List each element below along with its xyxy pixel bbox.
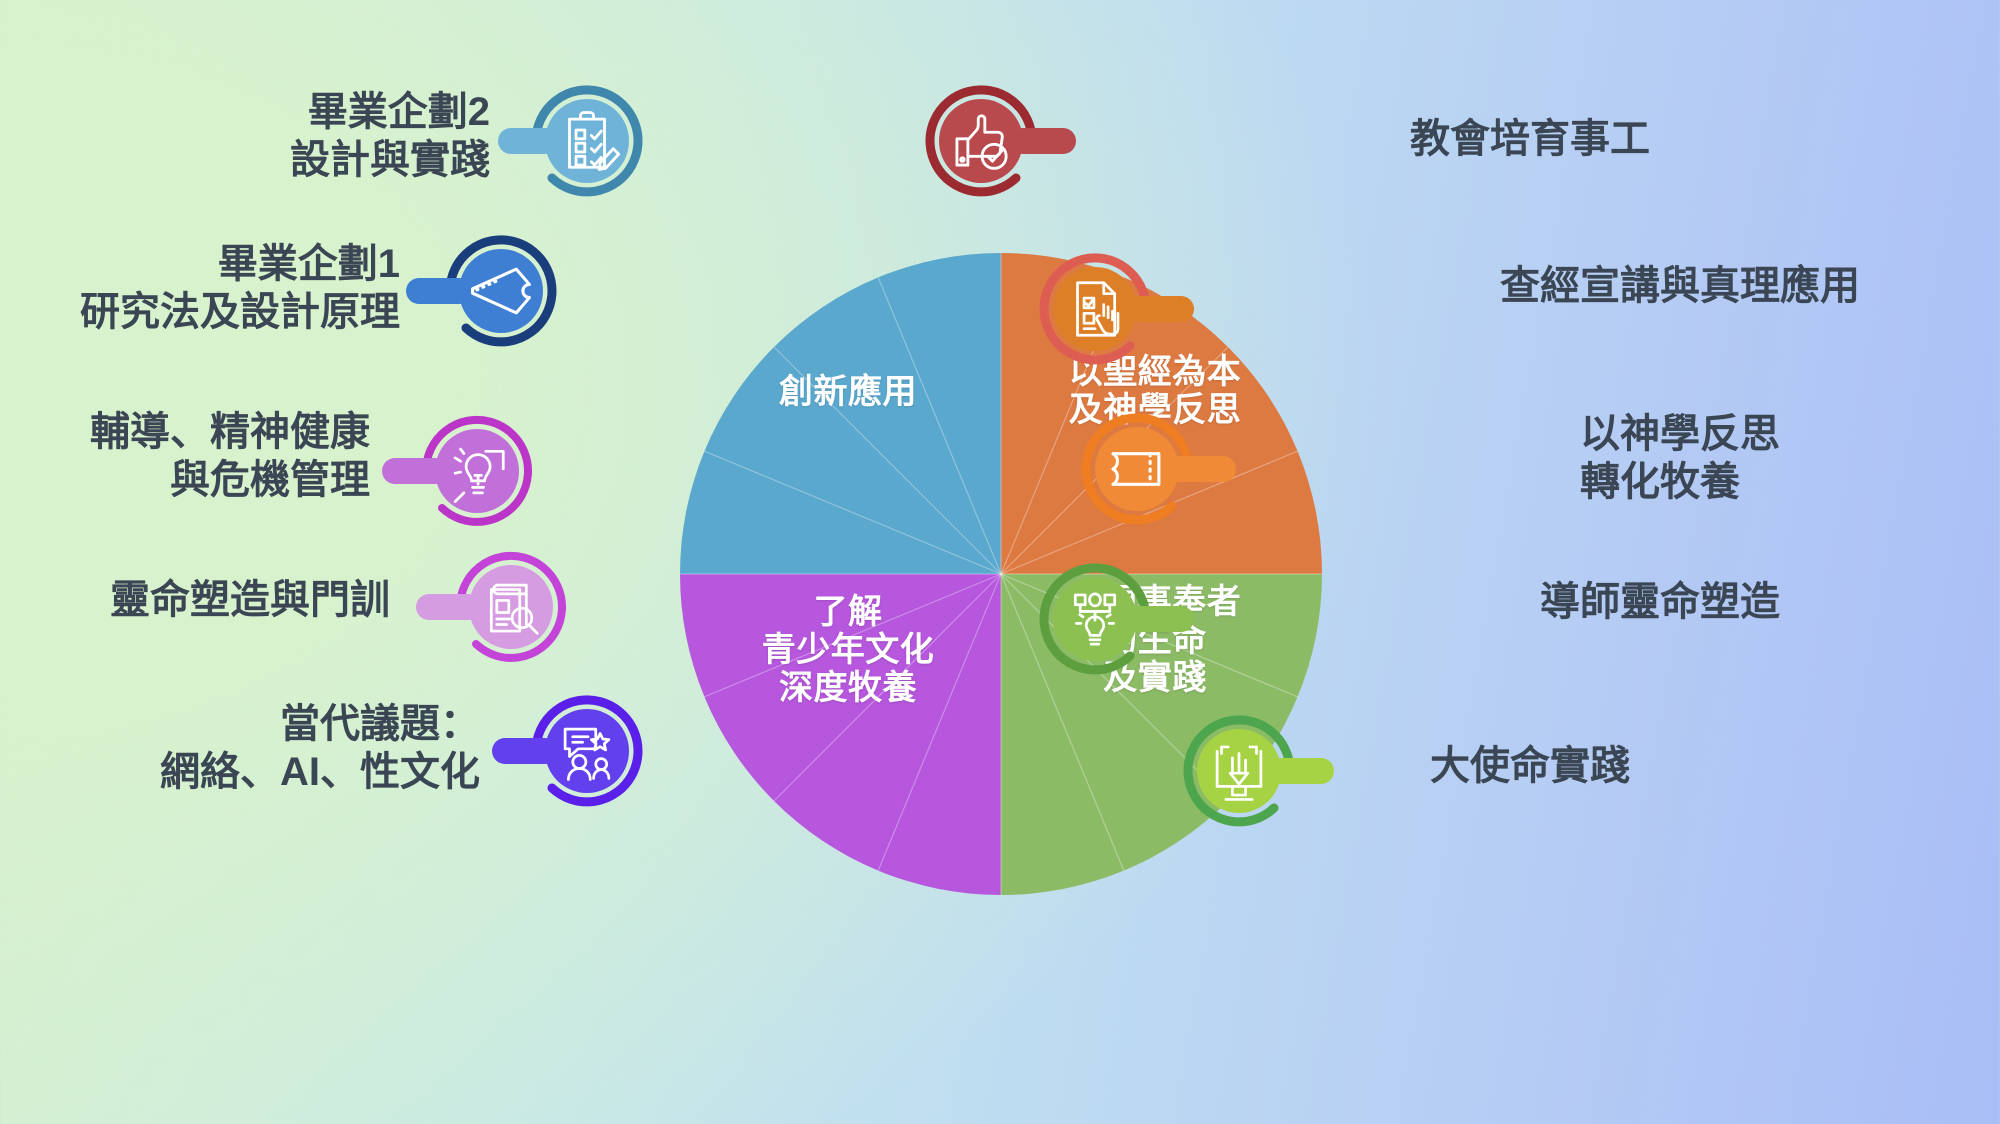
badge-mission[interactable]: [1160, 692, 1318, 850]
badge-theology[interactable]: [1058, 390, 1216, 548]
document-hand-icon: [1016, 230, 1174, 388]
label-capstone1: 畢業企劃1 研究法及設計原理: [20, 240, 400, 336]
badge-mentor[interactable]: [1016, 540, 1174, 698]
label-bible-study: 查經宣講與真理應用: [1500, 262, 2000, 310]
diagram-canvas: 創新應用 以聖經為本 及神學反思 了解 青少年文化 深度牧養 重視事奉者 的生命…: [0, 0, 2000, 1124]
label-church: 教會培育事工: [1410, 115, 1930, 163]
badge-bible-study[interactable]: [1016, 230, 1174, 388]
badge-counseling[interactable]: [398, 392, 556, 550]
badge-capstone1[interactable]: [422, 212, 580, 370]
ticket-stub-icon: [422, 212, 580, 370]
thumbs-up-check-icon: [902, 62, 1060, 220]
clipboard-checklist-pencil-icon: [508, 62, 666, 220]
document-magnifier-icon: [432, 528, 590, 686]
chat-people-icon: [508, 672, 666, 830]
monitor-chart-icon: [1160, 692, 1318, 850]
label-mission: 大使命實踐: [1430, 742, 1850, 790]
badge-capstone2[interactable]: [508, 62, 666, 220]
ticket-stub-icon: [1058, 390, 1216, 548]
wheel-label-youth: 了解 青少年文化 深度牧養: [698, 593, 998, 707]
label-contemporary: 當代議題： 網絡、AI、性文化: [60, 700, 480, 796]
badge-spiritual[interactable]: [432, 528, 590, 686]
label-mentor: 導師靈命塑造: [1540, 578, 1980, 626]
wheel-label-innovation: 創新應用: [698, 373, 998, 411]
badge-contemporary[interactable]: [508, 672, 666, 830]
lightbulb-idea-icon: [398, 392, 556, 550]
badge-church[interactable]: [902, 62, 1060, 220]
robot-bulb-icon: [1016, 540, 1174, 698]
label-counseling: 輔導、精神健康 與危機管理: [10, 408, 370, 504]
label-capstone2: 畢業企劃2 設計與實踐: [140, 88, 490, 184]
label-spiritual: 靈命塑造與門訓: [20, 576, 390, 624]
label-theology: 以神學反思 轉化牧養: [1580, 410, 1980, 506]
